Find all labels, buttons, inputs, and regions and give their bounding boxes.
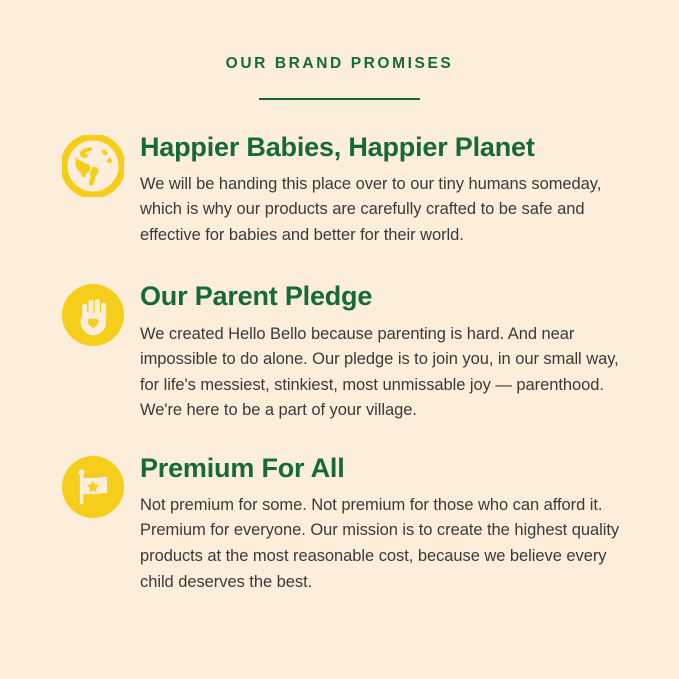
promise-list: Happier Babies, Happier Planet We will b… bbox=[0, 133, 679, 596]
page-header: OUR BRAND PROMISES bbox=[0, 0, 679, 100]
raised-hand-heart-icon bbox=[62, 284, 124, 346]
promise-content: Happier Babies, Happier Planet We will b… bbox=[140, 133, 631, 249]
promise-description: We will be handing this place over to ou… bbox=[140, 172, 626, 249]
brand-promises-page: OUR BRAND PROMISES H bbox=[0, 0, 679, 679]
promise-description: We created Hello Bello because parenting… bbox=[140, 322, 631, 424]
promise-item: Happier Babies, Happier Planet We will b… bbox=[62, 133, 631, 249]
promise-title: Happier Babies, Happier Planet bbox=[140, 133, 631, 162]
header-divider bbox=[259, 98, 420, 100]
promise-title: Our Parent Pledge bbox=[140, 282, 631, 311]
divider-container bbox=[0, 98, 679, 100]
promise-content: Our Parent Pledge We created Hello Bello… bbox=[140, 282, 631, 423]
globe-icon bbox=[62, 135, 124, 197]
promise-item: Premium For All Not premium for some. No… bbox=[62, 454, 631, 595]
promise-title: Premium For All bbox=[140, 454, 631, 483]
page-title: OUR BRAND PROMISES bbox=[0, 56, 679, 72]
promise-description: Not premium for some. Not premium for th… bbox=[140, 493, 631, 595]
promise-content: Premium For All Not premium for some. No… bbox=[140, 454, 631, 595]
flag-star-icon bbox=[62, 456, 124, 518]
promise-item: Our Parent Pledge We created Hello Bello… bbox=[62, 282, 631, 423]
